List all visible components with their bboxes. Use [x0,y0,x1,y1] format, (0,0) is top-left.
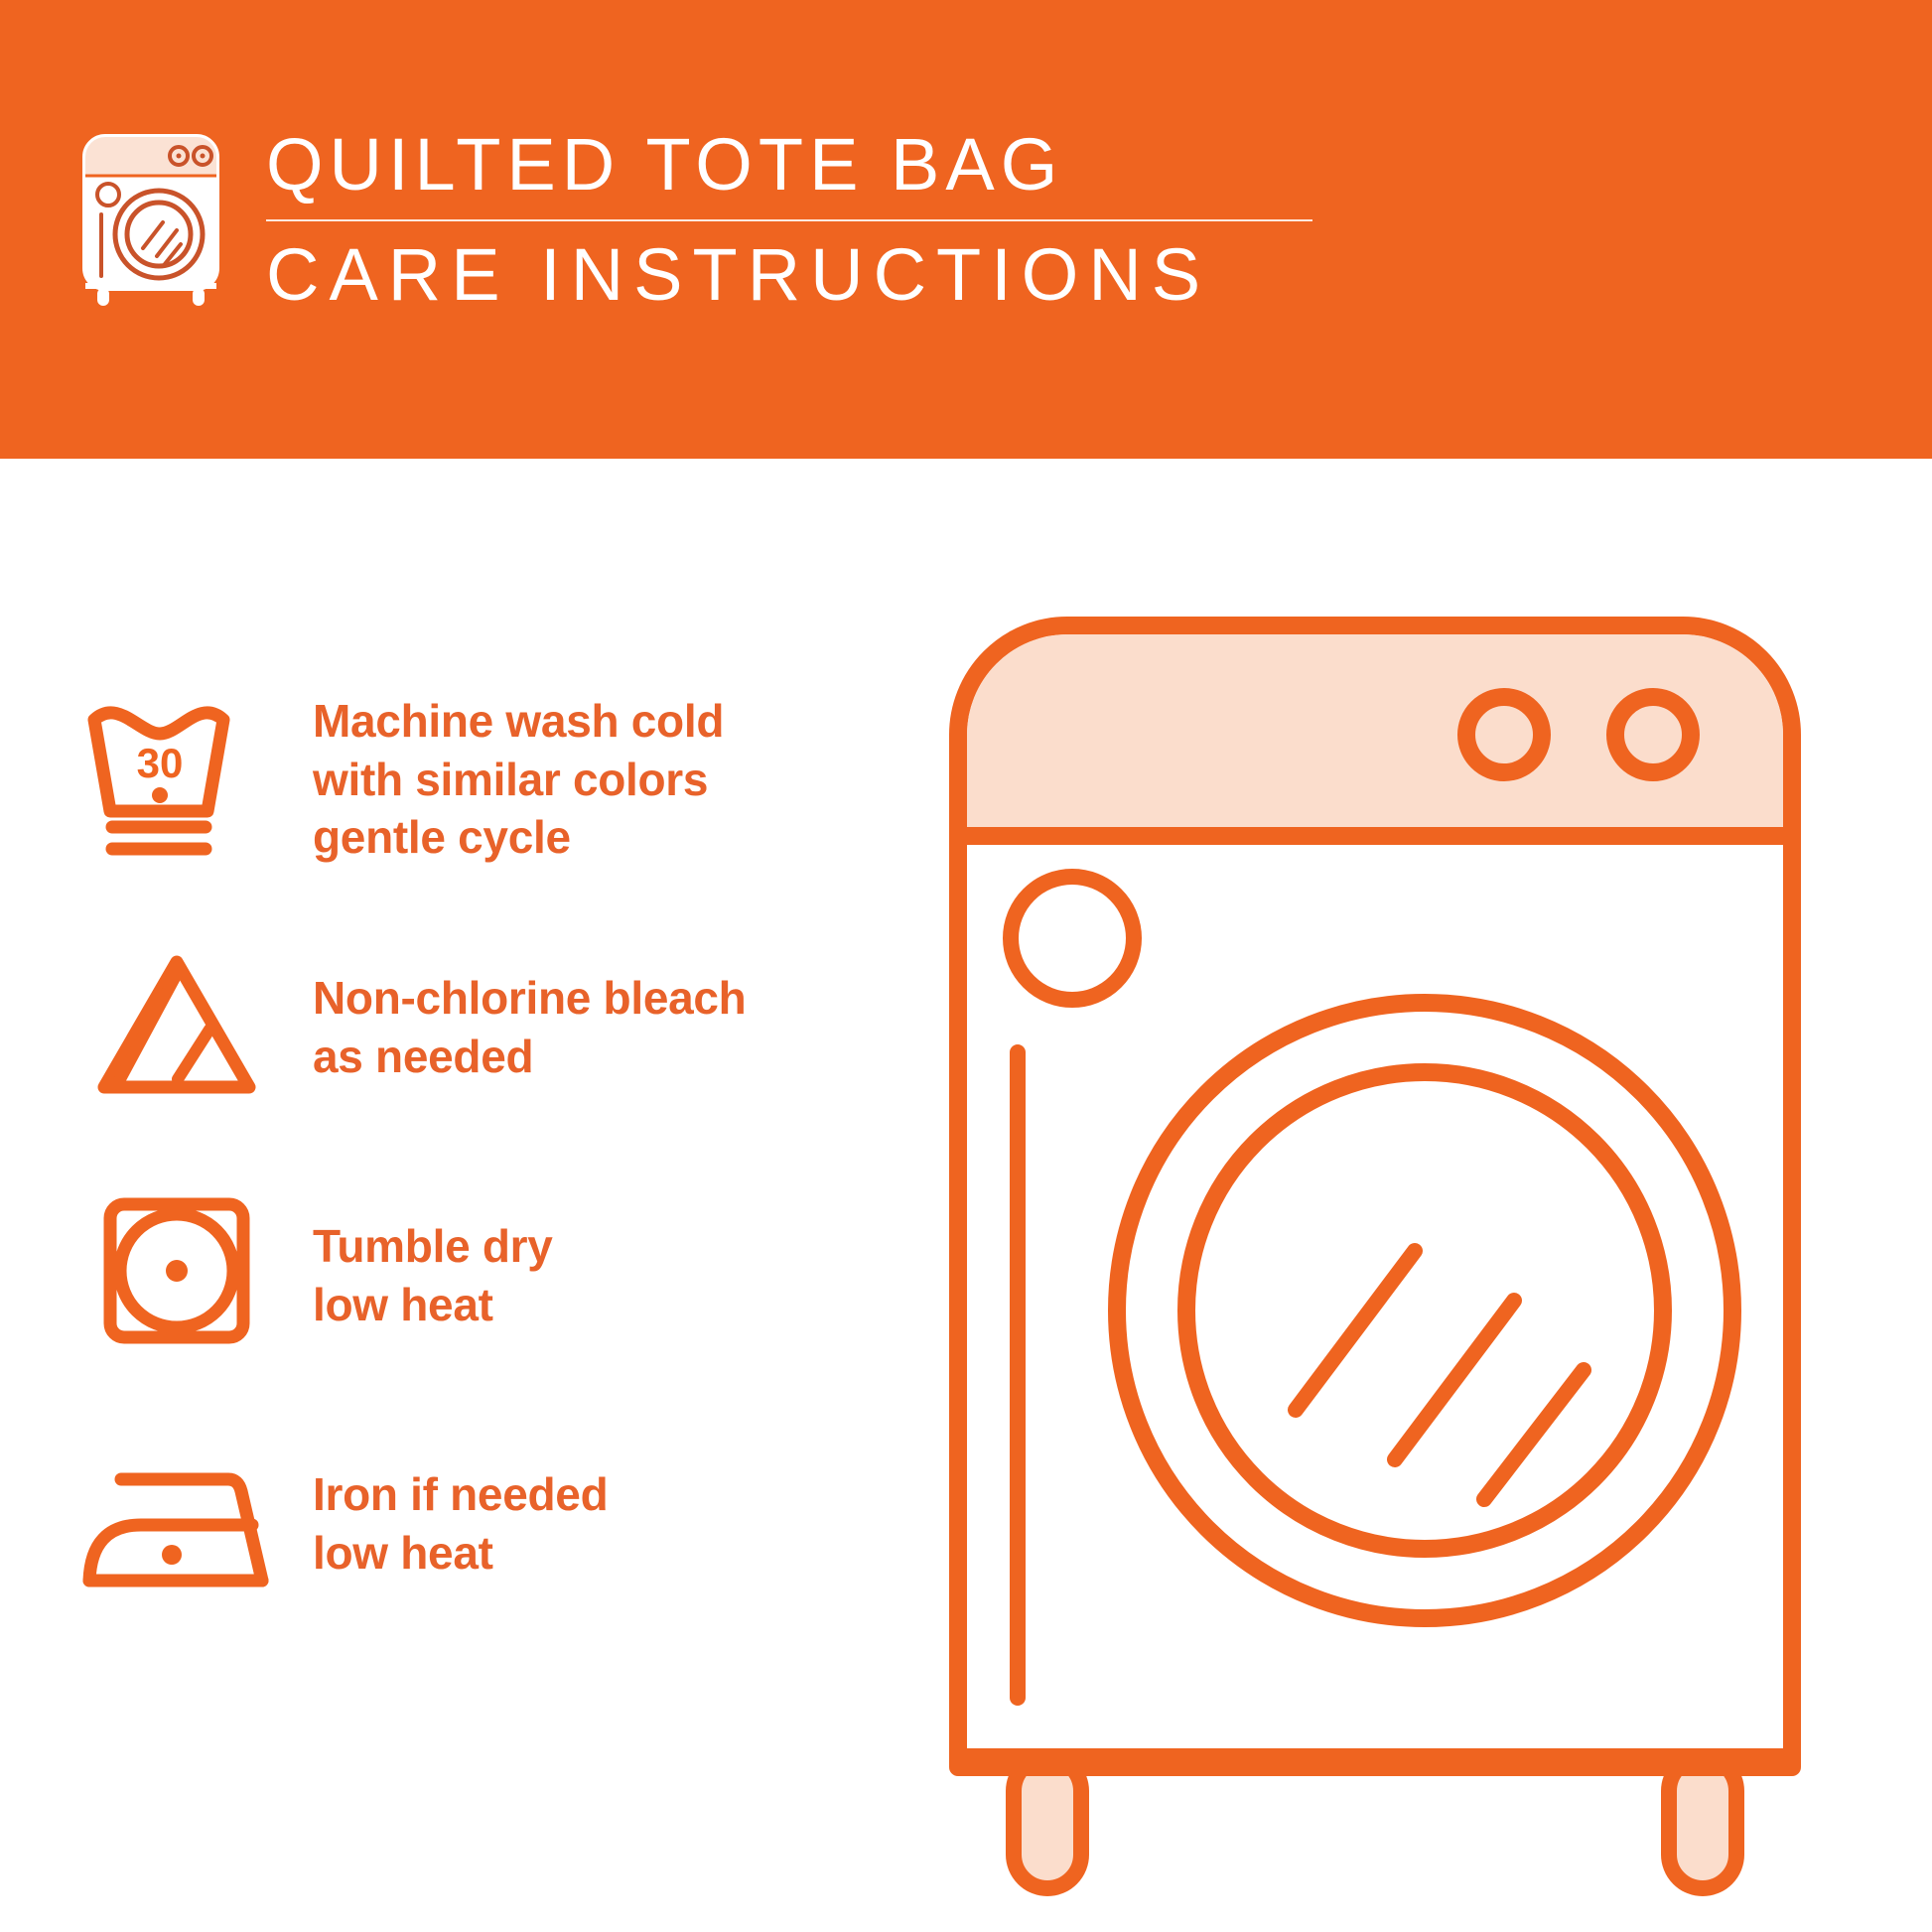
care-label: Machine wash cold with similar colors ge… [283,692,923,868]
care-label-line: Machine wash cold [313,692,923,751]
header-band: QUILTED TOTE BAG CARE INSTRUCTIONS [0,0,1932,459]
page-title-secondary: CARE INSTRUCTIONS [266,237,1312,312]
care-label-line: low heat [313,1276,923,1334]
care-label: Tumble dry low heat [283,1217,923,1334]
care-label-line: Tumble dry [313,1217,923,1276]
care-label: Iron if needed low heat [283,1465,923,1583]
care-label-line: Iron if needed [313,1465,923,1524]
header-title-block: QUILTED TOTE BAG CARE INSTRUCTIONS [266,125,1312,313]
page-title-primary: QUILTED TOTE BAG [266,127,1312,202]
title-divider [266,219,1312,221]
list-item: 30 Machine wash cold with similar colors… [69,655,923,903]
iron-low-heat-icon [69,1449,283,1598]
list-item: Iron if needed low heat [69,1400,923,1648]
machine-legs [1014,1757,1736,1888]
care-label-line: with similar colors [313,751,923,809]
care-label-line: as needed [313,1028,923,1086]
care-label-line: low heat [313,1524,923,1583]
care-instruction-list: 30 Machine wash cold with similar colors… [69,655,923,1648]
care-label-line: Non-chlorine bleach [313,969,923,1028]
wash-temp-label: 30 [136,740,183,786]
list-item: Tumble dry low heat [69,1152,923,1400]
tumble-dry-low-icon [69,1196,283,1355]
non-chlorine-bleach-triangle-icon [69,948,283,1107]
care-label-line: gentle cycle [313,808,923,867]
list-item: Non-chlorine bleach as needed [69,903,923,1152]
washing-machine-icon [71,129,230,308]
machine-wash-30-icon: 30 [69,700,283,859]
washing-machine-illustration [948,616,1871,1906]
care-label: Non-chlorine bleach as needed [283,969,923,1086]
header-content: QUILTED TOTE BAG CARE INSTRUCTIONS [71,119,1312,318]
